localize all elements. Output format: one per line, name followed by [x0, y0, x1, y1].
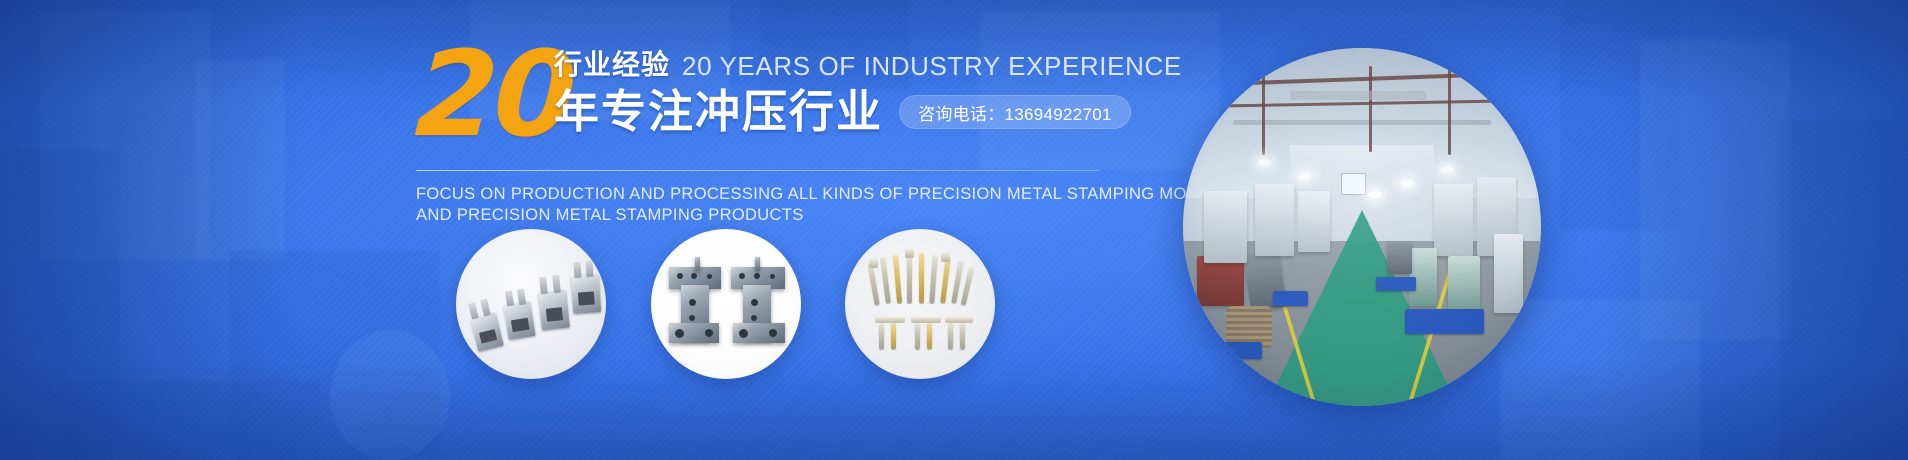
headline-divider [416, 170, 1100, 171]
metal-terminals-photo [845, 229, 995, 379]
die-photo-backdrop [651, 229, 801, 379]
banner-copy-block: 20 行业经验 20 YEARS OF INDUSTRY EXPERIENCE … [416, 44, 1116, 226]
cn-tagline-small: 行业经验 [554, 50, 670, 80]
usb-connectors-photo [456, 229, 606, 379]
headline-line-2: 年专注冲压行业 咨询电话：13694922701 [554, 86, 1114, 138]
en-tagline: 20 YEARS OF INDUSTRY EXPERIENCE [682, 52, 1182, 80]
factory-photo-shading [1183, 48, 1541, 406]
headline-line-1: 行业经验 20 YEARS OF INDUSTRY EXPERIENCE [554, 44, 1114, 80]
subtitle-paragraph: FOCUS ON PRODUCTION AND PROCESSING ALL K… [416, 184, 1106, 226]
promo-banner: 20 行业经验 20 YEARS OF INDUSTRY EXPERIENCE … [0, 0, 1908, 460]
cn-tagline-big: 年专注冲压行业 [554, 87, 883, 137]
stamping-die-photo [651, 229, 801, 379]
subtitle-line-1: FOCUS ON PRODUCTION AND PROCESSING ALL K… [416, 184, 1106, 205]
terminals-photo-backdrop [845, 229, 995, 379]
usb-photo-backdrop [456, 229, 606, 379]
headline-row: 20 行业经验 20 YEARS OF INDUSTRY EXPERIENCE … [416, 44, 1116, 156]
phone-badge[interactable]: 咨询电话：13694922701 [899, 95, 1131, 129]
headline-text-group: 行业经验 20 YEARS OF INDUSTRY EXPERIENCE 年专注… [554, 44, 1114, 138]
factory-workshop-photo [1183, 48, 1541, 406]
subtitle-line-2: AND PRECISION METAL STAMPING PRODUCTS [416, 205, 1106, 226]
years-number: 20 [413, 38, 575, 150]
